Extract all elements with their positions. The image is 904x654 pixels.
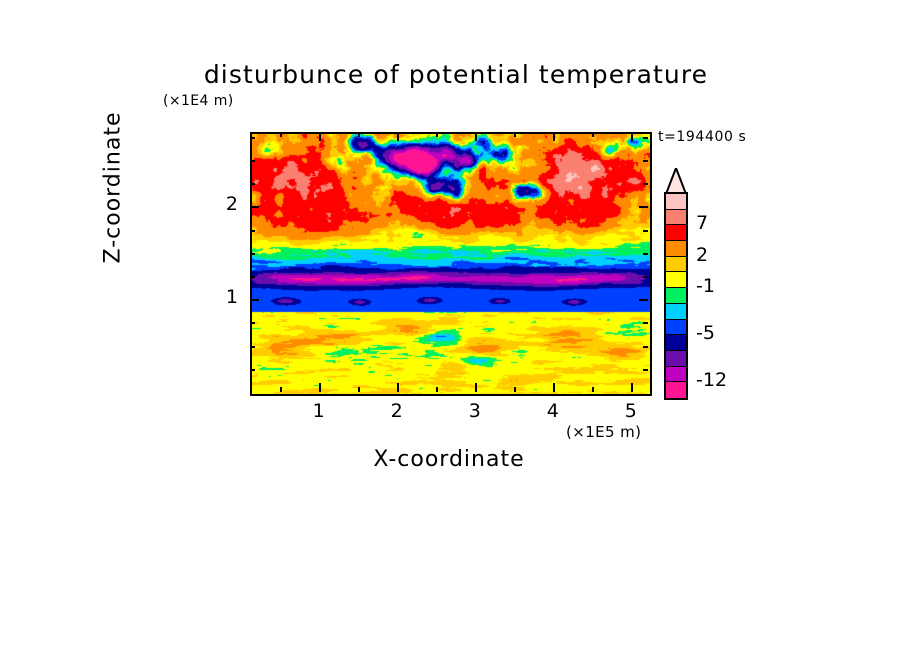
page-title: disturbunce of potential temperature [166, 60, 746, 89]
x-tick-label: 4 [528, 400, 578, 422]
x-major-tick-top [631, 132, 633, 141]
y-minor-tick [250, 160, 255, 162]
colorbar-band-yellow [666, 272, 686, 288]
plot-area [250, 132, 652, 396]
contour-field [252, 134, 650, 394]
y-minor-tick [250, 322, 255, 324]
time-stamp-label: t=194400 s [658, 129, 746, 145]
x-minor-tick-top [436, 132, 438, 137]
colorbar-band-blue [666, 320, 686, 336]
colorbar-band-red [666, 225, 686, 241]
y-major-tick-right [639, 299, 648, 301]
y-minor-tick-right [643, 322, 648, 324]
colorbar-tick-label: -12 [696, 369, 727, 391]
x-major-tick [631, 383, 633, 392]
figure-canvas: disturbunce of potential temperature (×1… [0, 0, 904, 654]
y-axis-units-label: (×1E4 m) [163, 93, 234, 109]
colorbar-band-purple [666, 351, 686, 367]
y-major-tick [250, 299, 259, 301]
x-minor-tick [280, 387, 282, 392]
colorbar-band-magenta [666, 382, 686, 398]
x-minor-tick [514, 387, 516, 392]
colorbar-band-orange [666, 241, 686, 257]
x-tick-label: 5 [606, 400, 656, 422]
x-major-tick [397, 383, 399, 392]
x-minor-tick-top [280, 132, 282, 137]
colorbar-band-navy [666, 335, 686, 351]
y-minor-tick-right [643, 230, 648, 232]
x-major-tick [319, 383, 321, 392]
y-minor-tick-right [643, 253, 648, 255]
colorbar-tick-label: -1 [696, 275, 715, 297]
colorbar-band-green [666, 288, 686, 304]
colorbar-band-amber [666, 257, 686, 273]
x-minor-tick-top [514, 132, 516, 137]
y-major-tick-right [639, 206, 648, 208]
x-tick-label: 2 [372, 400, 422, 422]
x-minor-tick-top [592, 132, 594, 137]
x-tick-label: 1 [294, 400, 344, 422]
x-major-tick-top [319, 132, 321, 141]
y-minor-tick [250, 183, 255, 185]
colorbar-tick-label: 7 [696, 212, 708, 234]
y-minor-tick-right [643, 137, 648, 139]
y-minor-tick [250, 137, 255, 139]
y-minor-tick [250, 276, 255, 278]
x-major-tick [475, 383, 477, 392]
y-minor-tick [250, 253, 255, 255]
y-minor-tick-right [643, 369, 648, 371]
y-minor-tick-right [643, 276, 648, 278]
y-minor-tick-right [643, 346, 648, 348]
x-minor-tick [358, 387, 360, 392]
colorbar-arrow-icon [664, 168, 688, 194]
colorbar-band-salmon [666, 210, 686, 226]
x-axis-title: X-coordinate [250, 447, 648, 472]
colorbar-tick-label: 2 [696, 244, 708, 266]
x-axis-units-label: (×1E5 m) [566, 423, 641, 441]
x-minor-tick [592, 387, 594, 392]
colorbar-tick-label: -5 [696, 322, 715, 344]
x-major-tick-top [475, 132, 477, 141]
y-minor-tick-right [643, 160, 648, 162]
y-minor-tick-right [643, 183, 648, 185]
x-major-tick-top [397, 132, 399, 141]
x-tick-label: 3 [450, 400, 500, 422]
y-tick-label: 1 [210, 286, 238, 308]
colorbar-band-pale-pink [666, 194, 686, 210]
x-minor-tick-top [358, 132, 360, 137]
x-major-tick [553, 383, 555, 392]
y-tick-label: 2 [210, 193, 238, 215]
y-minor-tick [250, 369, 255, 371]
colorbar [664, 192, 688, 400]
colorbar-band-cyan [666, 304, 686, 320]
y-minor-tick [250, 346, 255, 348]
y-minor-tick [250, 230, 255, 232]
x-minor-tick [436, 387, 438, 392]
x-major-tick-top [553, 132, 555, 141]
colorbar-band-purple-magenta [666, 367, 686, 383]
y-axis-title: Z-coordinate [101, 73, 126, 303]
y-major-tick [250, 206, 259, 208]
